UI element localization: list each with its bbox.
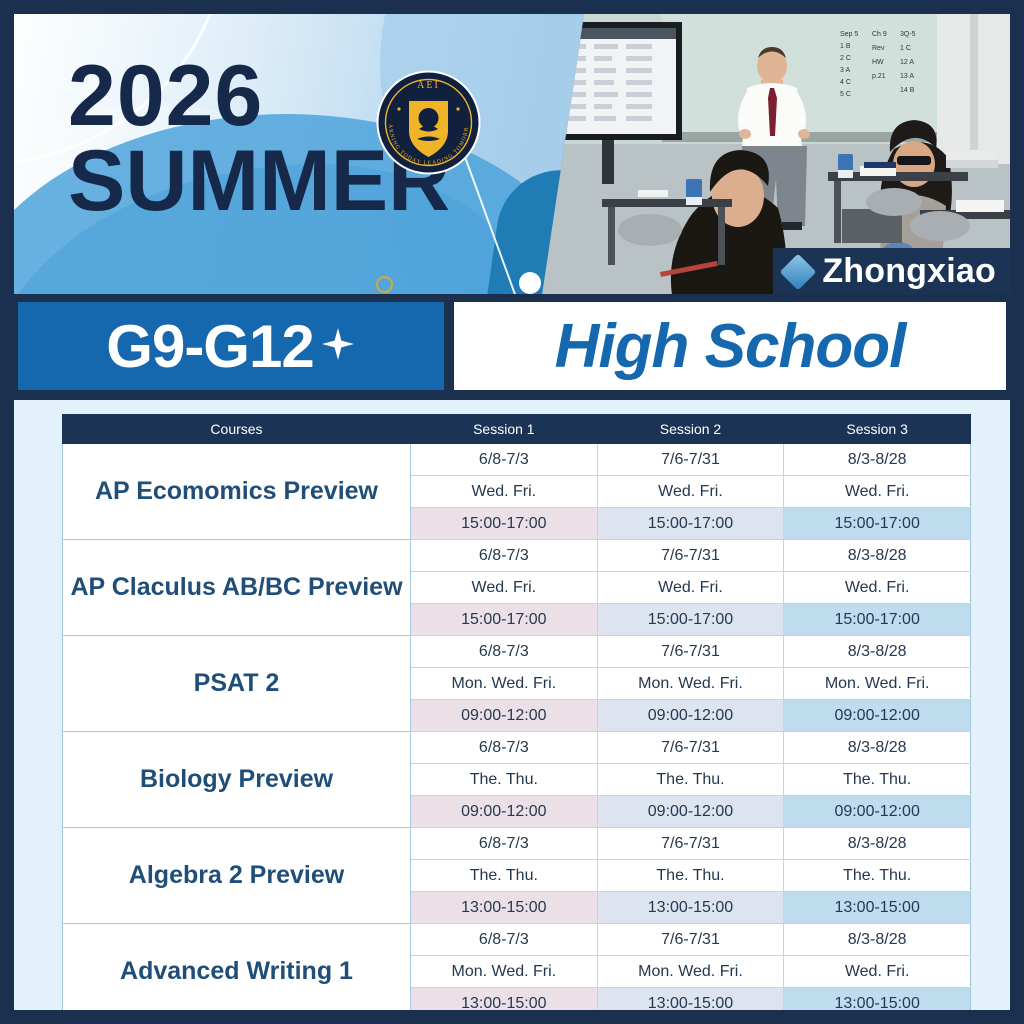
cell-day-session-3: The. Thu. [784, 860, 971, 892]
cell-date-session-1: 6/8-7/3 [411, 444, 598, 476]
school-level-box: High School [454, 302, 1006, 390]
cell-time-session-3: 15:00-17:00 [784, 508, 971, 540]
svg-text:13 A: 13 A [900, 73, 914, 80]
cell-time-session-3: 09:00-12:00 [784, 700, 971, 732]
brand-label: Zhongxiao [822, 252, 996, 291]
svg-text:Rev: Rev [872, 45, 885, 52]
diamond-icon [780, 253, 817, 290]
schedule-table: Courses Session 1 Session 2 Session 3 AP… [62, 414, 971, 1010]
cell-day-session-2: The. Thu. [597, 860, 784, 892]
cell-time-session-2: 13:00-15:00 [597, 892, 784, 924]
cell-date-session-2: 7/6-7/31 [597, 924, 784, 956]
header-dot-gold [376, 276, 393, 293]
grade-range-label: G9-G12 [106, 312, 313, 381]
cell-time-session-1: 15:00-17:00 [411, 508, 598, 540]
cell-date-session-2: 7/6-7/31 [597, 636, 784, 668]
cell-day-session-2: Wed. Fri. [597, 476, 784, 508]
cell-time-session-2: 15:00-17:00 [597, 604, 784, 636]
cell-day-session-1: The. Thu. [411, 764, 598, 796]
cell-date-session-3: 8/3-8/28 [784, 828, 971, 860]
cell-day-session-3: Wed. Fri. [784, 476, 971, 508]
cell-time-session-3: 13:00-15:00 [784, 892, 971, 924]
svg-text:1 B: 1 B [840, 43, 851, 50]
cell-day-session-2: Mon. Wed. Fri. [597, 668, 784, 700]
course-name-cell: AP Claculus AB/BC Preview [63, 540, 411, 636]
cell-day-session-3: Mon. Wed. Fri. [784, 668, 971, 700]
cell-date-session-3: 8/3-8/28 [784, 444, 971, 476]
cell-day-session-3: Wed. Fri. [784, 956, 971, 988]
aei-seal-logo: AEI LEARNING TODAY LEADING TOMORROW [375, 69, 482, 176]
table-row: AP Ecomomics Preview6/8-7/37/6-7/318/3-8… [63, 444, 971, 476]
school-level-label: High School [555, 311, 906, 382]
svg-text:4 C: 4 C [840, 79, 851, 86]
schedule-table-wrapper: Courses Session 1 Session 2 Session 3 AP… [62, 414, 970, 1010]
course-name-cell: Algebra 2 Preview [63, 828, 411, 924]
table-row: PSAT 26/8-7/37/6-7/318/3-8/28 [63, 636, 971, 668]
cell-date-session-1: 6/8-7/3 [411, 636, 598, 668]
cell-time-session-2: 13:00-15:00 [597, 988, 784, 1011]
column-header-session-1: Session 1 [411, 415, 598, 444]
svg-text:3Q-5: 3Q-5 [900, 31, 916, 38]
cell-time-session-2: 09:00-12:00 [597, 700, 784, 732]
poster-header: 2026 SUMMER AEI LE [14, 14, 1010, 294]
table-row: Algebra 2 Preview6/8-7/37/6-7/318/3-8/28 [63, 828, 971, 860]
cell-time-session-3: 09:00-12:00 [784, 796, 971, 828]
table-row: Biology Preview6/8-7/37/6-7/318/3-8/28 [63, 732, 971, 764]
poster-inner: 2026 SUMMER AEI LE [14, 14, 1010, 1010]
cell-day-session-1: The. Thu. [411, 860, 598, 892]
schedule-table-body: AP Ecomomics Preview6/8-7/37/6-7/318/3-8… [63, 444, 971, 1011]
cell-date-session-3: 8/3-8/28 [784, 636, 971, 668]
cell-day-session-2: The. Thu. [597, 764, 784, 796]
brand-badge: Zhongxiao [773, 248, 1010, 294]
column-header-courses: Courses [63, 415, 411, 444]
cell-day-session-1: Mon. Wed. Fri. [411, 956, 598, 988]
table-row: Advanced Writing 16/8-7/37/6-7/318/3-8/2… [63, 924, 971, 956]
svg-text:Sep 5: Sep 5 [840, 31, 858, 38]
cell-time-session-1: 09:00-12:00 [411, 700, 598, 732]
svg-text:HW: HW [872, 59, 884, 66]
cell-date-session-1: 6/8-7/3 [411, 828, 598, 860]
svg-text:2 C: 2 C [840, 55, 851, 62]
cell-date-session-2: 7/6-7/31 [597, 732, 784, 764]
svg-text:p.21: p.21 [872, 73, 886, 80]
column-header-session-2: Session 2 [597, 415, 784, 444]
cell-time-session-1: 09:00-12:00 [411, 796, 598, 828]
poster-frame: 2026 SUMMER AEI LE [0, 0, 1024, 1024]
course-name-cell: AP Ecomomics Preview [63, 444, 411, 540]
cell-date-session-1: 6/8-7/3 [411, 924, 598, 956]
cell-day-session-2: Wed. Fri. [597, 572, 784, 604]
course-name-cell: PSAT 2 [63, 636, 411, 732]
cell-day-session-2: Mon. Wed. Fri. [597, 956, 784, 988]
table-row: AP Claculus AB/BC Preview6/8-7/37/6-7/31… [63, 540, 971, 572]
svg-text:12 A: 12 A [900, 59, 914, 66]
cell-date-session-2: 7/6-7/31 [597, 444, 784, 476]
cell-day-session-3: Wed. Fri. [784, 572, 971, 604]
cell-day-session-1: Wed. Fri. [411, 476, 598, 508]
header-dot-white [519, 272, 541, 294]
svg-text:1 C: 1 C [900, 45, 911, 52]
cell-date-session-1: 6/8-7/3 [411, 540, 598, 572]
cell-day-session-1: Wed. Fri. [411, 572, 598, 604]
svg-text:5 C: 5 C [840, 91, 851, 98]
cell-date-session-2: 7/6-7/31 [597, 828, 784, 860]
cell-time-session-2: 15:00-17:00 [597, 508, 784, 540]
svg-text:14 B: 14 B [900, 87, 915, 94]
cell-time-session-3: 13:00-15:00 [784, 988, 971, 1011]
cell-date-session-1: 6/8-7/3 [411, 732, 598, 764]
cell-time-session-1: 13:00-15:00 [411, 892, 598, 924]
cell-date-session-2: 7/6-7/31 [597, 540, 784, 572]
sparkle-icon [320, 326, 356, 367]
cell-date-session-3: 8/3-8/28 [784, 540, 971, 572]
svg-text:3 A: 3 A [840, 67, 850, 74]
column-header-session-3: Session 3 [784, 415, 971, 444]
cell-time-session-1: 15:00-17:00 [411, 604, 598, 636]
cell-time-session-3: 15:00-17:00 [784, 604, 971, 636]
cell-date-session-3: 8/3-8/28 [784, 924, 971, 956]
cell-time-session-2: 09:00-12:00 [597, 796, 784, 828]
grade-range-box: G9-G12 [18, 302, 444, 390]
course-name-cell: Advanced Writing 1 [63, 924, 411, 1011]
classroom-photo: Sep 51 B 2 C3 A 4 C5 C Ch 9Rev HWp.21 3Q… [542, 14, 1010, 294]
cell-day-session-3: The. Thu. [784, 764, 971, 796]
svg-text:AEI: AEI [417, 80, 440, 91]
cell-date-session-3: 8/3-8/28 [784, 732, 971, 764]
svg-text:Ch 9: Ch 9 [872, 31, 887, 38]
cell-day-session-1: Mon. Wed. Fri. [411, 668, 598, 700]
table-header-row: Courses Session 1 Session 2 Session 3 [63, 415, 971, 444]
cell-time-session-1: 13:00-15:00 [411, 988, 598, 1011]
grade-level-band: G9-G12 High School [14, 294, 1010, 400]
course-name-cell: Biology Preview [63, 732, 411, 828]
